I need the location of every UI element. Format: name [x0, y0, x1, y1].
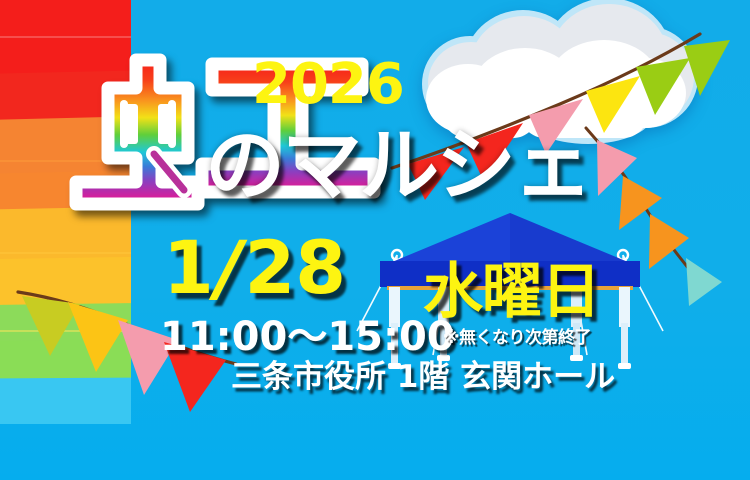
- subtitle-label: のマルシェ: [205, 126, 590, 206]
- rainbow-stripe-divider: [0, 330, 131, 332]
- date-month: 1: [163, 226, 214, 311]
- event-time: 11:00〜15:00: [160, 317, 455, 357]
- date-day: 28: [244, 226, 346, 311]
- rainbow-stripe-green-2: [0, 339, 131, 383]
- rainbow-stripe-divider: [0, 252, 131, 254]
- event-date: 1/28: [163, 232, 346, 305]
- venue-label: 三条市役所 1階 玄関ホール: [231, 362, 615, 393]
- weekday-label: 水曜日: [423, 262, 600, 322]
- year-label: 2026: [252, 57, 404, 113]
- rainbow-stripe-divider: [0, 36, 131, 38]
- rainbow-stripe-blue: [0, 378, 131, 424]
- date-separator: /: [214, 232, 245, 305]
- stock-note: ※無くなり次第終了: [443, 330, 591, 347]
- poster-canvas: 2026 のマルシェ 1/28 水曜日 11:00〜15:00 ※無くなり次第終…: [0, 0, 750, 480]
